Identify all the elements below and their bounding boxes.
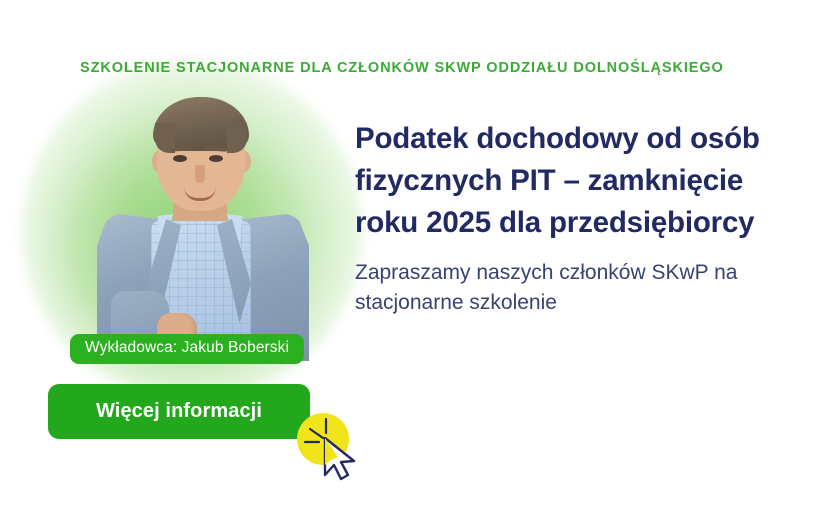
speaker-badge: Wykładowca: Jakub Boberski	[70, 334, 304, 364]
click-cursor-icon	[297, 413, 373, 485]
more-info-button[interactable]: Więcej informacji	[48, 384, 310, 439]
eyebrow-text: SZKOLENIE STACJONARNE DLA CZŁONKÓW SKWP …	[80, 60, 724, 76]
photo-eye-right	[209, 155, 223, 162]
photo-hair	[153, 97, 249, 151]
photo-nose	[195, 165, 205, 183]
subtitle: Zapraszamy naszych członków SKwP na stac…	[355, 258, 755, 318]
cursor-decoration	[297, 413, 373, 485]
speaker-photo	[95, 95, 310, 360]
promo-banner: SZKOLENIE STACJONARNE DLA CZŁONKÓW SKWP …	[0, 0, 820, 510]
photo-eye-left	[173, 155, 187, 162]
page-title: Podatek dochodowy od osób fizycznych PIT…	[355, 118, 785, 244]
